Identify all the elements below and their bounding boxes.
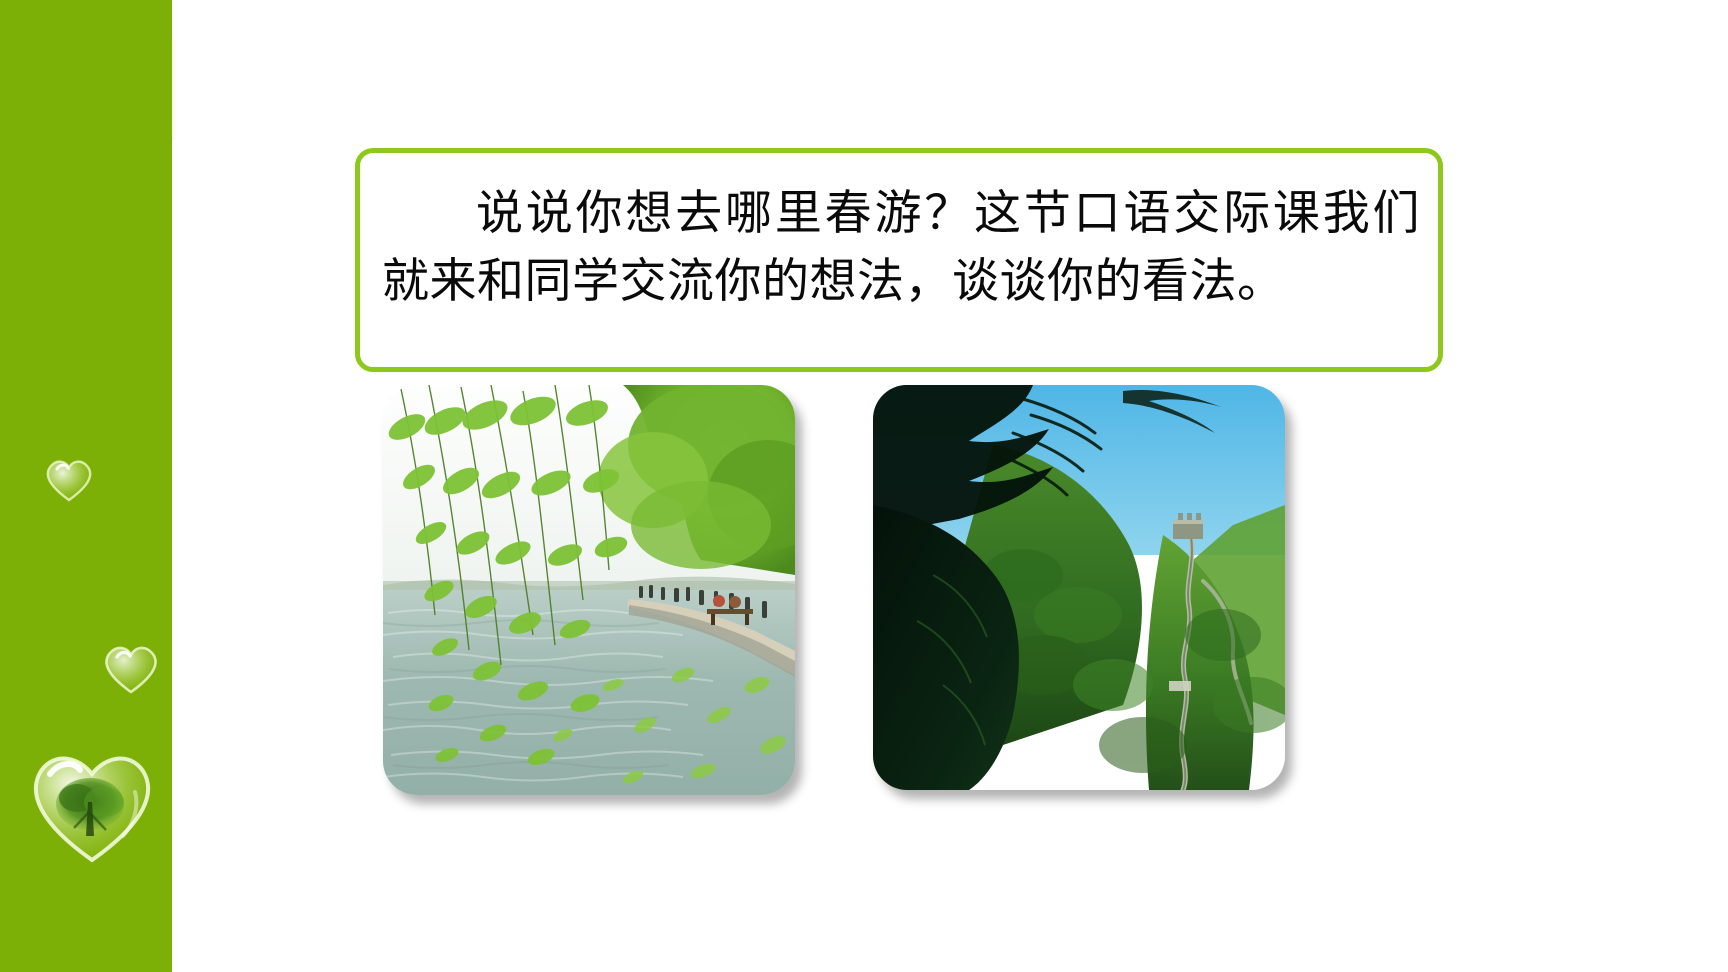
sidebar-accent-bar (172, 40, 177, 140)
great-wall-mountains-photo (873, 385, 1285, 790)
instruction-callout-box: 说说你想去哪里春游？这节口语交际课我们就来和同学交流你的想法，谈谈你的看法。 (355, 148, 1443, 372)
instruction-text: 说说你想去哪里春游？这节口语交际课我们就来和同学交流你的想法，谈谈你的看法。 (382, 181, 1420, 316)
slide-canvas: 说说你想去哪里春游？这节口语交际课我们就来和同学交流你的想法，谈谈你的看法。 (0, 0, 1728, 972)
lakeside-willow-photo (383, 385, 795, 795)
left-green-sidebar (0, 0, 172, 972)
